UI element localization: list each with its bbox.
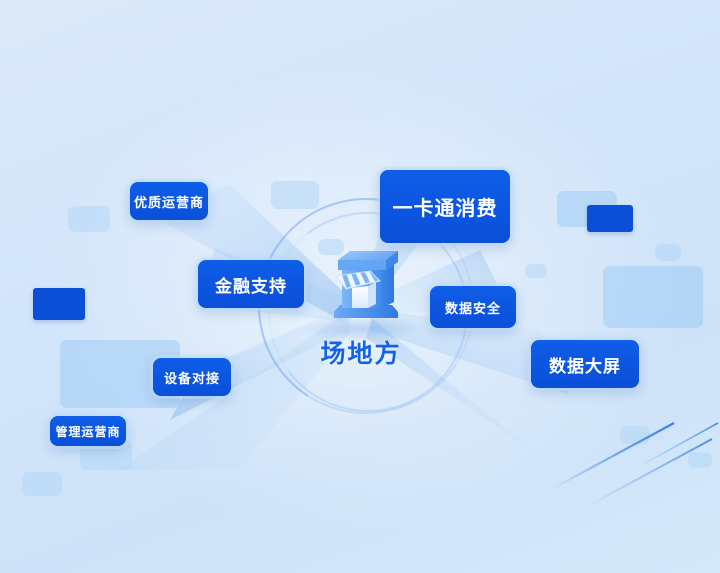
concept-graphic-canvas: 场地方 优质运营商 金融支持 一卡通消费 数据安全 数据大屏 设备对接 管理运营… <box>0 0 720 573</box>
node-card-financial-support[interactable]: 金融支持 <box>198 260 304 308</box>
node-card-data-dashboard[interactable]: 数据大屏 <box>531 340 639 388</box>
speed-streak-lines <box>540 405 720 515</box>
center-node-label: 场地方 <box>296 334 426 370</box>
node-card-device-integration[interactable]: 设备对接 <box>153 358 231 396</box>
center-node: 场地方 <box>296 238 426 378</box>
node-card-one-card-payment[interactable]: 一卡通消费 <box>380 170 510 243</box>
node-card-management-operator[interactable]: 管理运营商 <box>50 416 126 446</box>
node-card-premium-operator[interactable]: 优质运营商 <box>130 182 208 220</box>
node-card-data-security[interactable]: 数据安全 <box>430 286 516 328</box>
storefront-3d-icon <box>318 238 410 330</box>
